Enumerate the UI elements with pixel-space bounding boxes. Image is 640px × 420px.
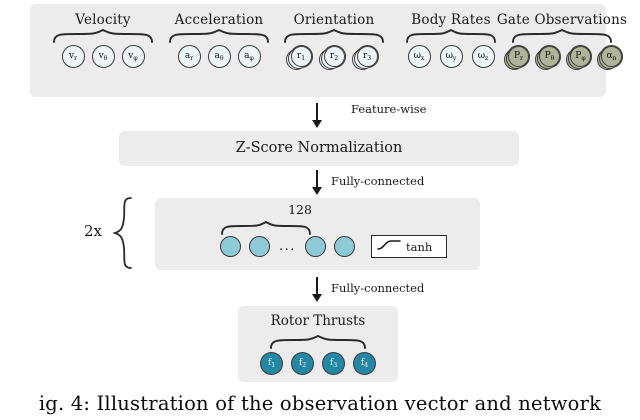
thrust-node: f2 bbox=[291, 352, 314, 375]
observation-panel: Velocity vr vθ vφ Acceleration ar aθ aφ bbox=[30, 4, 606, 97]
obs-node: ar bbox=[178, 45, 201, 68]
obs-node: ωx bbox=[408, 45, 431, 68]
hidden-unit bbox=[249, 236, 270, 257]
hidden-units-count: 128 bbox=[120, 202, 480, 217]
obs-node: vr bbox=[62, 45, 85, 68]
output-box: Rotor Thrusts f1 f2 f3 f4 bbox=[238, 306, 398, 382]
brace-icon bbox=[482, 29, 640, 43]
arrow-fully-connected-2 bbox=[316, 277, 318, 295]
group-gate-observations: Gate Observations Pr Pθ Pφ αn bbox=[482, 12, 640, 68]
thrust-node: f4 bbox=[353, 352, 376, 375]
hidden-unit bbox=[305, 236, 326, 257]
normalization-title: Z-Score Normalization bbox=[119, 140, 519, 156]
ellipsis: ... bbox=[278, 239, 297, 254]
hidden-units-row: ... bbox=[220, 236, 355, 257]
arrow-label-feature-wise: Feature-wise bbox=[351, 102, 426, 116]
arrow-fully-connected-1 bbox=[316, 170, 318, 188]
tanh-curve-icon bbox=[376, 237, 402, 256]
brace-icon bbox=[274, 29, 394, 43]
activation-label: tanh bbox=[406, 240, 432, 254]
obs-node: r2 bbox=[323, 45, 346, 68]
normalization-box: Z-Score Normalization bbox=[119, 131, 519, 166]
obs-node: aφ bbox=[238, 45, 261, 68]
group-nodes: ar aθ aφ bbox=[160, 45, 278, 68]
obs-node: vφ bbox=[122, 45, 145, 68]
group-title: Velocity bbox=[44, 12, 162, 28]
arrow-label-fully-connected-2: Fully-connected bbox=[331, 281, 424, 295]
hidden-layer-box: 128 ... tanh bbox=[155, 198, 480, 270]
obs-node: Pr bbox=[507, 45, 530, 68]
thrust-node: f1 bbox=[260, 352, 283, 375]
obs-node: vθ bbox=[92, 45, 115, 68]
brace-icon bbox=[160, 29, 278, 43]
brace-icon bbox=[44, 29, 162, 43]
group-title: Gate Observations bbox=[482, 12, 640, 28]
obs-node: αn bbox=[600, 45, 623, 68]
obs-node: r3 bbox=[356, 45, 379, 68]
brace-icon bbox=[268, 334, 368, 353]
output-nodes: f1 f2 f3 f4 bbox=[238, 352, 398, 375]
group-orientation: Orientation r1 r2 r3 bbox=[274, 12, 394, 68]
group-title: Acceleration bbox=[160, 12, 278, 28]
hidden-unit bbox=[334, 236, 355, 257]
group-title: Orientation bbox=[274, 12, 394, 28]
group-nodes: Pr Pθ Pφ αn bbox=[488, 45, 640, 68]
thrust-node: f3 bbox=[322, 352, 345, 375]
hidden-unit bbox=[220, 236, 241, 257]
figure-diagram: Velocity vr vθ vφ Acceleration ar aθ aφ bbox=[0, 0, 640, 420]
group-nodes: vr vθ vφ bbox=[44, 45, 162, 68]
obs-node: aθ bbox=[208, 45, 231, 68]
arrow-feature-wise bbox=[316, 103, 318, 121]
activation-box: tanh bbox=[371, 235, 447, 258]
group-nodes: r1 r2 r3 bbox=[274, 45, 394, 68]
group-velocity: Velocity vr vθ vφ bbox=[44, 12, 162, 68]
obs-node: r1 bbox=[290, 45, 313, 68]
arrow-label-fully-connected-1: Fully-connected bbox=[331, 174, 424, 188]
obs-node: Pφ bbox=[569, 45, 592, 68]
obs-node: Pθ bbox=[538, 45, 561, 68]
output-title: Rotor Thrusts bbox=[238, 313, 398, 329]
group-acceleration: Acceleration ar aθ aφ bbox=[160, 12, 278, 68]
obs-node: ωy bbox=[440, 45, 463, 68]
repeat-label: 2x bbox=[84, 222, 102, 240]
figure-caption: ig. 4: Illustration of the observation v… bbox=[0, 392, 640, 415]
